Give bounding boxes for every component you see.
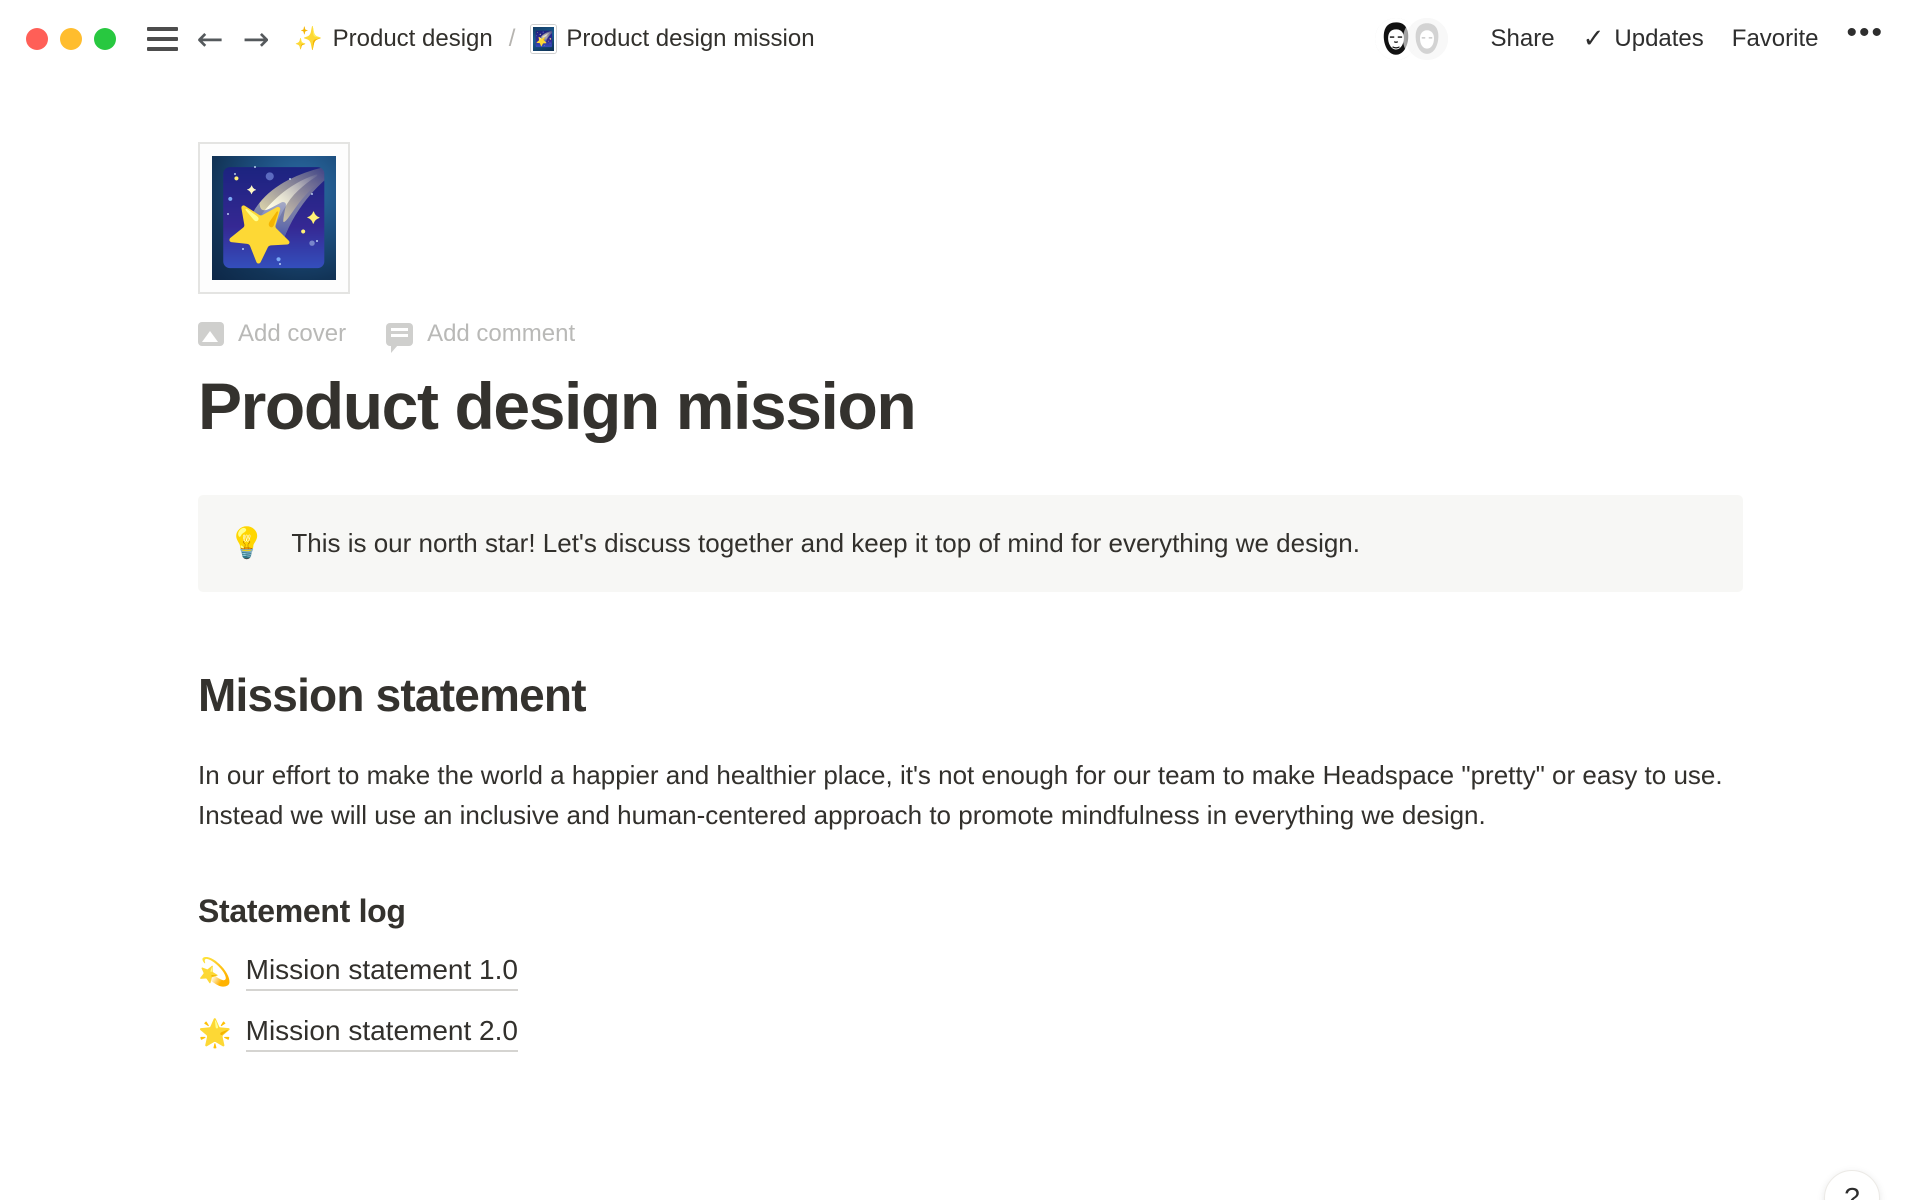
add-cover-button[interactable]: Add cover: [198, 320, 346, 348]
statement-log-link-label: Mission statement 2.0: [246, 1015, 518, 1052]
statement-log-link-1[interactable]: 💫 Mission statement 1.0: [198, 954, 518, 991]
avatar[interactable]: [1403, 15, 1451, 63]
updates-label: Updates: [1614, 25, 1703, 53]
comment-icon: [386, 323, 413, 346]
check-icon: ✓: [1583, 26, 1605, 52]
dizzy-star-icon: 💫: [198, 959, 232, 986]
section-heading-mission-statement[interactable]: Mission statement: [198, 668, 1920, 722]
glowing-star-icon: 🌟: [198, 1020, 232, 1047]
breadcrumb-item-product-design[interactable]: ✨ Product design: [290, 22, 497, 56]
callout-text: This is our north star! Let's discuss to…: [291, 525, 1360, 563]
arrow-right-icon: →: [243, 23, 270, 55]
statement-log-link-2[interactable]: 🌟 Mission statement 2.0: [198, 1015, 518, 1052]
image-icon: [198, 322, 224, 346]
avatar-face-icon: [1406, 18, 1448, 60]
arrow-left-icon: ←: [197, 23, 224, 55]
breadcrumb-label: Product design mission: [566, 25, 814, 53]
share-button[interactable]: Share: [1477, 17, 1569, 61]
back-button[interactable]: ←: [190, 19, 230, 59]
shooting-star-icon: 🌠: [531, 25, 556, 53]
window-titlebar: ← → ✨ Product design / 🌠 Product design …: [0, 0, 1920, 78]
close-window-button[interactable]: [26, 28, 48, 50]
breadcrumb-item-product-design-mission[interactable]: 🌠 Product design mission: [527, 22, 818, 56]
callout-block[interactable]: 💡 This is our north star! Let's discuss …: [198, 495, 1743, 593]
breadcrumb-separator: /: [507, 25, 518, 53]
sparkles-icon: ✨: [294, 28, 323, 51]
traffic-lights: [26, 28, 116, 50]
more-options-icon[interactable]: •••: [1832, 24, 1898, 54]
updates-button[interactable]: ✓ Updates: [1569, 17, 1718, 61]
section-paragraph-mission-statement[interactable]: In our effort to make the world a happie…: [198, 756, 1738, 835]
topbar-actions: Share ✓ Updates Favorite •••: [1372, 15, 1898, 63]
breadcrumb: ✨ Product design / 🌠 Product design miss…: [290, 22, 819, 56]
minimize-window-button[interactable]: [60, 28, 82, 50]
navigation-arrows: ← →: [190, 19, 276, 59]
shooting-star-glyph: 🌠: [535, 32, 554, 47]
shooting-star-icon: 🌠: [217, 172, 332, 264]
page-body: 🌠 Add cover Add comment Product design m…: [0, 142, 1920, 1200]
hamburger-icon: [147, 27, 178, 51]
add-cover-label: Add cover: [238, 320, 346, 348]
page-icon[interactable]: 🌠: [198, 142, 350, 294]
page-meta-actions: Add cover Add comment: [198, 320, 1920, 348]
help-button[interactable]: ?: [1824, 1170, 1880, 1200]
statement-log-link-label: Mission statement 1.0: [246, 954, 518, 991]
forward-button[interactable]: →: [236, 19, 276, 59]
lightbulb-icon: 💡: [228, 525, 265, 563]
add-comment-label: Add comment: [427, 320, 575, 348]
breadcrumb-label: Product design: [333, 25, 493, 53]
sidebar-toggle-button[interactable]: [142, 19, 182, 59]
collaborator-avatars[interactable]: [1372, 15, 1451, 63]
favorite-button[interactable]: Favorite: [1718, 17, 1833, 61]
page-title[interactable]: Product design mission: [198, 370, 1920, 443]
add-comment-button[interactable]: Add comment: [386, 320, 575, 348]
section-heading-statement-log[interactable]: Statement log: [198, 893, 1920, 930]
page-icon-image: 🌠: [212, 156, 336, 280]
maximize-window-button[interactable]: [94, 28, 116, 50]
